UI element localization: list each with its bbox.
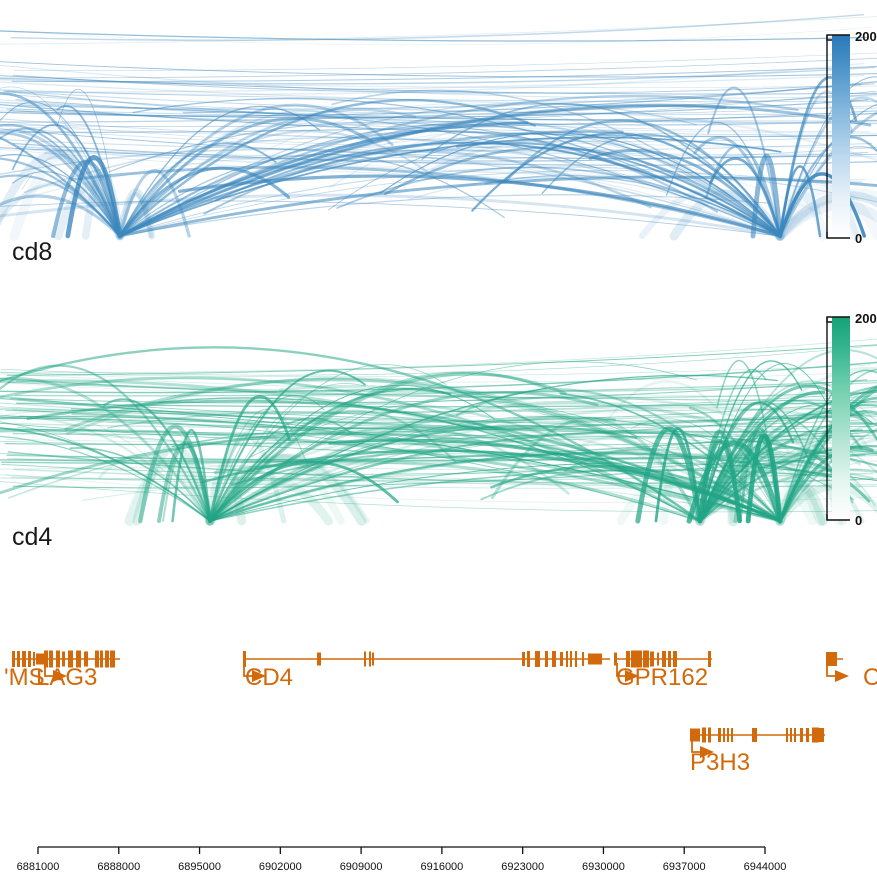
- axis-tick-label: 6895000: [178, 861, 221, 873]
- axis-tick-label: 6923000: [501, 861, 544, 873]
- axis-tick-label: 6909000: [340, 861, 383, 873]
- gene-label-c-truncated[interactable]: C: [863, 664, 877, 691]
- cd4-colorbar-min-label: 0: [855, 513, 862, 528]
- axis-tick-label: 6930000: [582, 861, 625, 873]
- track-label-cd8: cd8: [12, 238, 52, 267]
- gene-label-cd4[interactable]: CD4: [245, 664, 293, 691]
- cd8-junction-arcs: [0, 15, 877, 236]
- axis-tick-label: 6937000: [663, 861, 706, 873]
- axis-ticks: [38, 847, 765, 854]
- track-label-cd4: cd4: [12, 523, 52, 552]
- cd8-colorbar-min-label: 0: [855, 231, 862, 246]
- gene-track-svg: 'MS LAG3 CD4 GPR162 C P3H3: [0, 575, 877, 820]
- gene-label-gpr162[interactable]: GPR162: [616, 664, 708, 691]
- axis-tick-label: 6916000: [420, 861, 463, 873]
- cd4-sashimi-svg: 200 0: [0, 285, 877, 575]
- cd4-colorbar-max-label: 200: [855, 311, 877, 326]
- gene-annotation-panel: 'MS LAG3 CD4 GPR162 C P3H3: [0, 575, 877, 820]
- track-panel-cd4: 200 0: [0, 285, 877, 575]
- axis-svg: 6881000688800068950006902000690900069160…: [0, 820, 877, 892]
- gene-models: [12, 651, 849, 759]
- gene-label-lag3[interactable]: LAG3: [36, 664, 97, 691]
- gene-label-p3h3[interactable]: P3H3: [690, 749, 750, 776]
- cd8-sashimi-svg: 200 0: [0, 0, 877, 285]
- axis-tick-label: 6944000: [744, 861, 787, 873]
- axis-tick-labels: 6881000688800068950006902000690900069160…: [17, 861, 787, 873]
- axis-tick-label: 6902000: [259, 861, 302, 873]
- track-panel-cd8: 200 0: [0, 0, 877, 285]
- cd4-junction-arcs: [0, 339, 877, 521]
- genomic-coordinate-axis: 6881000688800068950006902000690900069160…: [0, 820, 877, 892]
- axis-tick-label: 6888000: [97, 861, 140, 873]
- axis-tick-label: 6881000: [17, 861, 60, 873]
- cd8-colorbar-max-label: 200: [855, 29, 877, 44]
